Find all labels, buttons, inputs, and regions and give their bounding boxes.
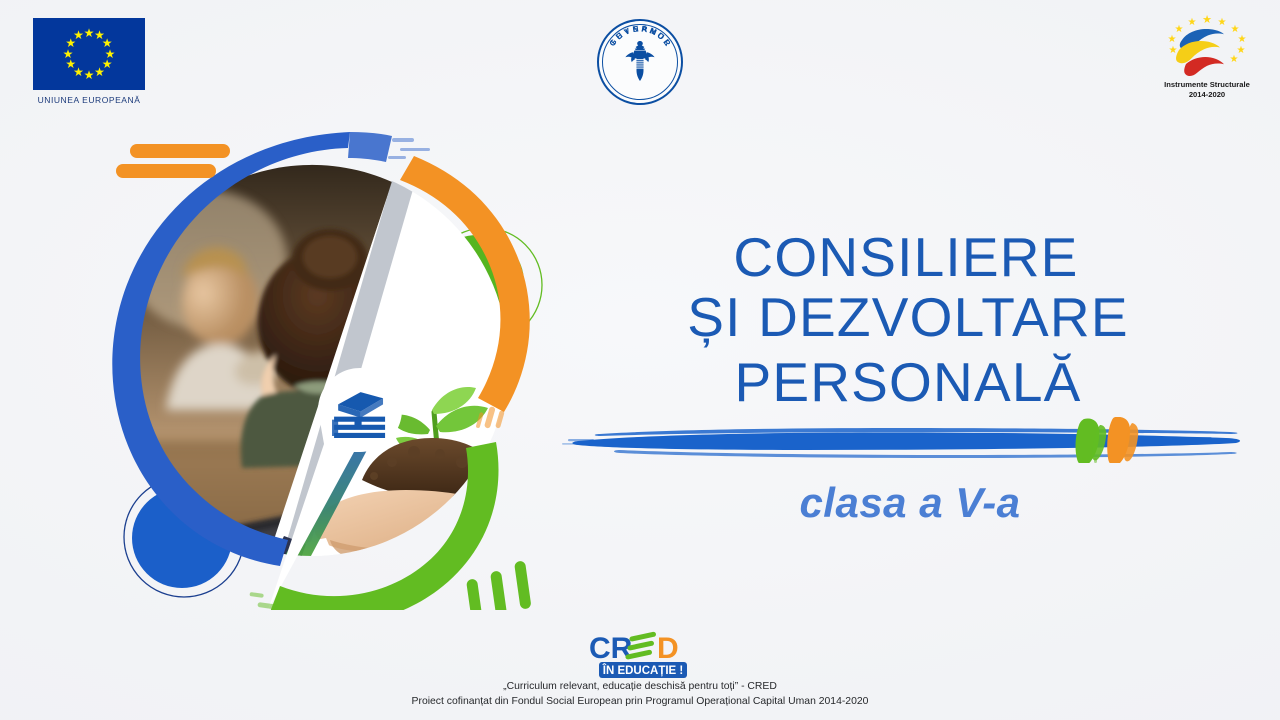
seal-char: I: [609, 39, 618, 46]
seal-char: Â: [641, 24, 648, 34]
eu-star: ★: [73, 30, 84, 41]
eagle-crest-icon: [620, 39, 660, 85]
title-block: CONSILIERE ȘI DEZVOLTARE PERSONALĂ: [560, 230, 1260, 527]
is-caption-line1: Instrumente Structurale: [1152, 80, 1262, 90]
seal-char: N: [632, 24, 639, 34]
counselling-collage-illustration: [62, 110, 562, 610]
footer-line-1: „Curriculum relevant, educație deschisă …: [0, 680, 1280, 695]
page-title-line2: ȘI DEZVOLTARE PERSONALĂ: [560, 285, 1260, 415]
page-subtitle: clasa a V-a: [560, 479, 1260, 527]
eu-star: ★: [84, 28, 95, 39]
green-lightbulb-rays: [466, 560, 532, 610]
cred-letter-d: D: [657, 632, 679, 665]
footer-text: „Curriculum relevant, educație deschisă …: [0, 680, 1280, 710]
cred-logo-icon: CR D ÎN EDUCAȚIE !: [585, 630, 705, 682]
romanian-government-seal-icon: GUVERNUL ROMÂNIEI: [597, 19, 683, 105]
eu-star: ★: [94, 67, 105, 78]
eu-logo-caption: UNIUNEA EUROPEANĂ: [33, 95, 145, 105]
eu-star: ★: [65, 59, 76, 70]
structural-instruments-caption: Instrumente Structurale 2014-2020: [1152, 80, 1262, 100]
eu-star: ★: [84, 70, 95, 81]
blue-brush-underline: [560, 417, 1260, 463]
cred-letters-cr: CR: [589, 632, 633, 665]
svg-text:★: ★: [1230, 54, 1239, 65]
structural-instruments-icon: ★ ★ ★ ★ ★ ★ ★ ★ ★ ★ ★: [1152, 14, 1262, 80]
structural-instruments-logo: ★ ★ ★ ★ ★ ★ ★ ★ ★ ★ ★: [1152, 14, 1262, 100]
seal-char: R: [661, 38, 672, 48]
eu-star: ★: [63, 49, 74, 60]
svg-text:★: ★: [1188, 17, 1197, 28]
seal-char: I: [624, 27, 630, 36]
page-title-line1: CONSILIERE: [560, 230, 1260, 285]
orange-dashes: [116, 144, 230, 178]
eu-logo: ★★★★★★★★★★★★ UNIUNEA EUROPEANĂ: [33, 18, 151, 105]
svg-text:★: ★: [1218, 17, 1227, 28]
svg-text:★: ★: [1202, 14, 1212, 26]
svg-text:★: ★: [1238, 34, 1247, 45]
eu-flag-icon: ★★★★★★★★★★★★: [33, 18, 145, 90]
romanian-flag-swoosh: [1176, 29, 1224, 76]
is-caption-line2: 2014-2020: [1152, 90, 1262, 100]
slide-canvas: ★★★★★★★★★★★★ UNIUNEA EUROPEANĂ GUVERNUL …: [0, 0, 1280, 720]
footer-line-2: Proiect cofinanțat din Fondul Social Eur…: [0, 695, 1280, 710]
cred-banner-label: ÎN EDUCAȚIE !: [602, 664, 684, 677]
svg-text:★: ★: [1168, 34, 1177, 45]
